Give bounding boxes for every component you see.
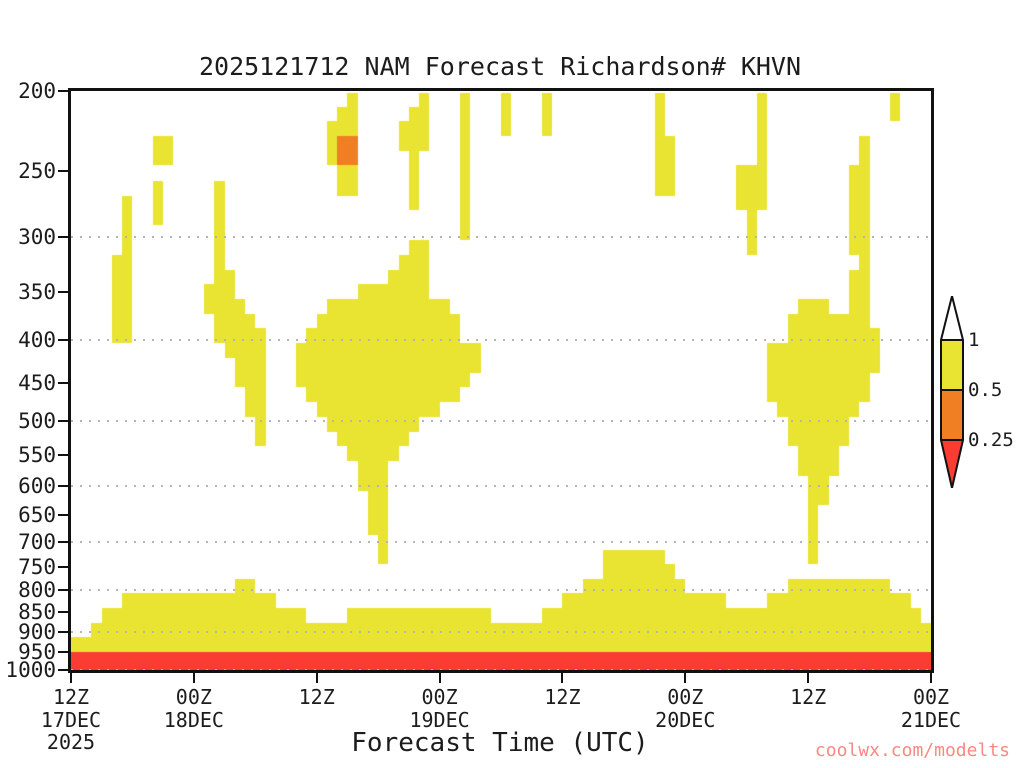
y-tick-mark-300 [58,236,68,238]
x-tick-mark-3 [439,673,441,683]
plot-area [68,88,934,673]
x-tick-mark-1 [193,673,195,683]
x-tick-mark-4 [561,673,563,683]
heatmap-canvas [71,91,931,670]
colorbar-segment-orange [941,390,963,440]
y-tick-mark-900 [58,631,68,633]
x-tick-mark-0 [70,673,72,683]
y-tick-label-350: 350 [18,282,56,303]
y-tick-mark-550 [58,454,68,456]
y-tick-mark-250 [58,170,68,172]
colorbar-label-1: 1 [968,331,979,350]
y-tick-label-650: 650 [18,505,56,526]
x-tick-time-7: 00Z [851,686,1011,709]
y-axis: 2002503003504004505005506006507007508008… [0,0,56,768]
y-tick-label-400: 400 [18,330,56,351]
y-tick-mark-800 [58,589,68,591]
colorbar: 1 0.5 0.25 [938,296,966,488]
x-tick-mark-7 [930,673,932,683]
y-tick-label-200: 200 [18,81,56,102]
colorbar-label-0_5: 0.5 [968,381,1002,400]
y-tick-label-1000: 1000 [5,660,56,681]
y-tick-label-300: 300 [18,227,56,248]
colorbar-under-arrow [941,440,963,488]
x-tick-mark-6 [807,673,809,683]
y-tick-mark-950 [58,651,68,653]
y-tick-mark-200 [58,90,68,92]
y-tick-mark-350 [58,291,68,293]
colorbar-label-0_25: 0.25 [968,431,1014,450]
y-tick-mark-500 [58,420,68,422]
colorbar-over-arrow [941,296,963,340]
y-tick-mark-1000 [58,669,68,671]
y-tick-mark-750 [58,566,68,568]
colorbar-graphic [938,296,966,488]
y-tick-label-700: 700 [18,532,56,553]
y-tick-label-750: 750 [18,557,56,578]
y-tick-label-800: 800 [18,580,56,601]
y-tick-label-500: 500 [18,411,56,432]
y-tick-label-550: 550 [18,445,56,466]
y-tick-label-600: 600 [18,476,56,497]
x-tick-label-7: 00Z21DEC [851,686,1011,731]
y-tick-mark-400 [58,339,68,341]
colorbar-segment-yellow [941,340,963,390]
y-tick-mark-450 [58,382,68,384]
x-tick-mark-5 [684,673,686,683]
x-tick-mark-2 [316,673,318,683]
watermark-link[interactable]: coolwx.com/modelts [815,740,1010,761]
y-tick-label-250: 250 [18,161,56,182]
y-tick-label-450: 450 [18,373,56,394]
y-tick-mark-700 [58,541,68,543]
chart-title: 2025121712 NAM Forecast Richardson# KHVN [0,52,1000,81]
y-tick-mark-600 [58,485,68,487]
y-tick-mark-850 [58,611,68,613]
y-tick-mark-650 [58,514,68,516]
